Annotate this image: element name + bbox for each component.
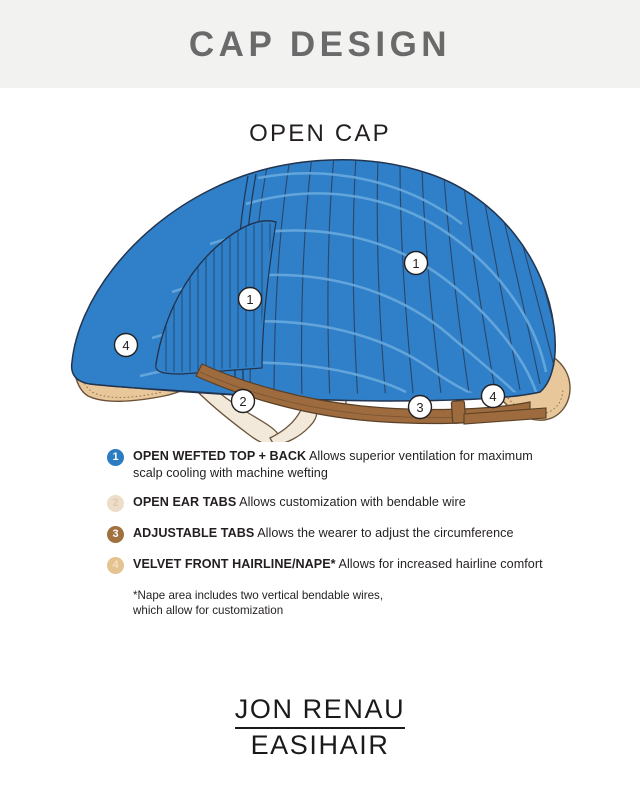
callout-3-strap: 3 [409,396,432,419]
legend-text-4: VELVET FRONT HAIRLINE/NAPE* Allows for i… [133,556,543,573]
callout-4-front: 4 [115,334,138,357]
svg-text:2: 2 [239,394,246,409]
callout-4-nape: 4 [482,385,505,408]
legend-item-3: 3 ADJUSTABLE TABS Allows the wearer to a… [107,525,555,543]
legend-text-1: OPEN WEFTED TOP + BACK Allows superior v… [133,448,555,481]
legend-marker-1: 1 [107,449,124,466]
legend-list: 1 OPEN WEFTED TOP + BACK Allows superior… [85,448,555,618]
cap-dome [72,155,560,402]
legend-text-3: ADJUSTABLE TABS Allows the wearer to adj… [133,525,514,542]
brand-logo: JON RENAU EASIHAIR [0,695,640,760]
page-title: CAP DESIGN [189,27,451,62]
legend-desc-2: Allows customization with bendable wire [239,495,466,509]
svg-text:3: 3 [416,400,423,415]
legend-marker-4: 4 [107,557,124,574]
legend-title-1: OPEN WEFTED TOP + BACK [133,449,306,463]
legend-title-3: ADJUSTABLE TABS [133,526,254,540]
legend-title-2: OPEN EAR TABS [133,495,236,509]
brand-name-primary: JON RENAU [0,695,640,724]
legend-marker-2: 2 [107,495,124,512]
cap-illustration: 1 1 4 2 3 4 [0,152,640,442]
callout-1-top: 1 [405,252,428,275]
brand-divider [235,727,405,729]
legend-footnote: *Nape area includes two vertical bendabl… [133,588,555,618]
svg-text:4: 4 [489,389,496,404]
legend-marker-3: 3 [107,526,124,543]
svg-text:1: 1 [246,292,253,307]
callout-2-ear-tab: 2 [232,390,255,413]
brand-name-secondary: EASIHAIR [0,731,640,760]
legend-item-4: 4 VELVET FRONT HAIRLINE/NAPE* Allows for… [107,556,555,574]
legend-title-4: VELVET FRONT HAIRLINE/NAPE* [133,557,336,571]
svg-text:4: 4 [122,338,129,353]
callout-1-front: 1 [239,288,262,311]
subtitle-container: OPEN CAP [0,88,640,148]
legend-text-2: OPEN EAR TABS Allows customization with … [133,494,466,511]
legend-desc-4: Allows for increased hairline comfort [339,557,543,571]
legend-item-2: 2 OPEN EAR TABS Allows customization wit… [107,494,555,512]
open-cap-diagram-svg: 1 1 4 2 3 4 [60,152,580,442]
header-band: CAP DESIGN [0,0,640,88]
svg-text:1: 1 [412,256,419,271]
cap-type-subtitle: OPEN CAP [249,120,391,147]
legend-desc-3: Allows the wearer to adjust the circumfe… [257,526,513,540]
legend-item-1: 1 OPEN WEFTED TOP + BACK Allows superior… [107,448,555,481]
